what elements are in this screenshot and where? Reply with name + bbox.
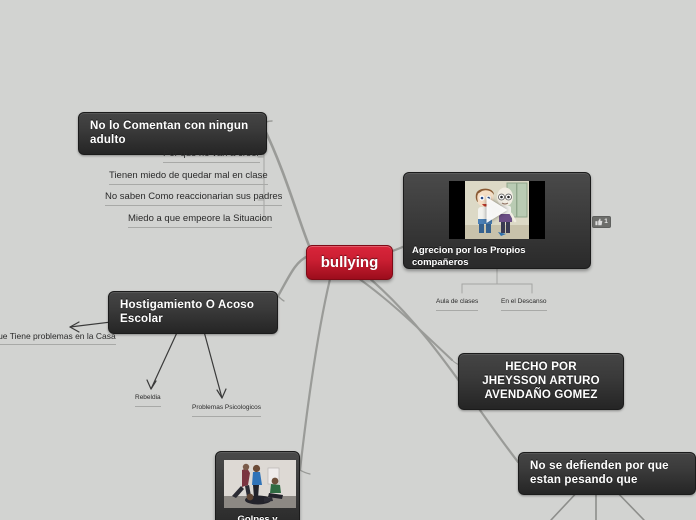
- leaf-problemas-psicologicos[interactable]: Problemas Psicologicos: [192, 402, 261, 417]
- mindmap-canvas[interactable]: bullying No lo Comentan con ningun adult…: [0, 0, 696, 520]
- leaf-aula-de-clases[interactable]: Aula de clases: [436, 296, 478, 311]
- leaf-en-el-descanso[interactable]: En el Descanso: [501, 296, 547, 311]
- photo-students-fighting[interactable]: [224, 460, 296, 508]
- thumbs-up-icon: [595, 218, 603, 226]
- leaf-tienen-miedo-de-quedar-mal-en-clase[interactable]: Tienen miedo de quedar mal en clase: [109, 170, 268, 185]
- leaf-no-saben-como-reaccionarian-sus-padres[interactable]: No saben Como reaccionarian sus padres: [105, 191, 282, 206]
- topic-no-se-defienden-por-que-estan-pesando-que[interactable]: No se defienden por que estan pesando qu…: [518, 452, 696, 495]
- leaf-es-que-tiene-problemas-en-la-casa[interactable]: es que Tiene problemas en la Casa: [0, 330, 116, 345]
- topic-label: Golpes y Acoso: [224, 514, 291, 520]
- topic-agrecion-por-los-propios-companeros[interactable]: Agrecion por los Propios compañeros: [403, 172, 591, 269]
- central-topic-bullying[interactable]: bullying: [306, 245, 393, 280]
- hecho-por-line1: HECHO POR: [470, 360, 612, 374]
- hecho-por-line2: JHEYSSON ARTURO AVENDAÑO GOMEZ: [470, 374, 612, 402]
- like-count: 1: [604, 219, 608, 225]
- leaf-por-que-no-van-a-creer[interactable]: Por que no van a creer: [163, 148, 260, 163]
- topic-label: Agrecion por los Propios compañeros: [412, 245, 582, 269]
- topic-golpes-y-acoso[interactable]: Golpes y Acoso: [215, 451, 300, 520]
- leaf-miedo-a-que-empeore-la-situacion[interactable]: Miedo a que empeore la Situacion: [128, 213, 272, 228]
- leaf-rebeldia[interactable]: Rebeldia: [135, 392, 161, 407]
- video-thumbnail-cartoon-bullying[interactable]: [449, 181, 545, 239]
- topic-hecho-por[interactable]: HECHO POR JHEYSSON ARTURO AVENDAÑO GOMEZ: [458, 353, 624, 410]
- play-button-icon[interactable]: [487, 197, 508, 223]
- topic-hostigamiento-o-acoso-escolar[interactable]: Hostigamiento O Acoso Escolar: [108, 291, 278, 334]
- photo-content: [224, 460, 296, 508]
- like-count-badge[interactable]: 1: [592, 216, 611, 228]
